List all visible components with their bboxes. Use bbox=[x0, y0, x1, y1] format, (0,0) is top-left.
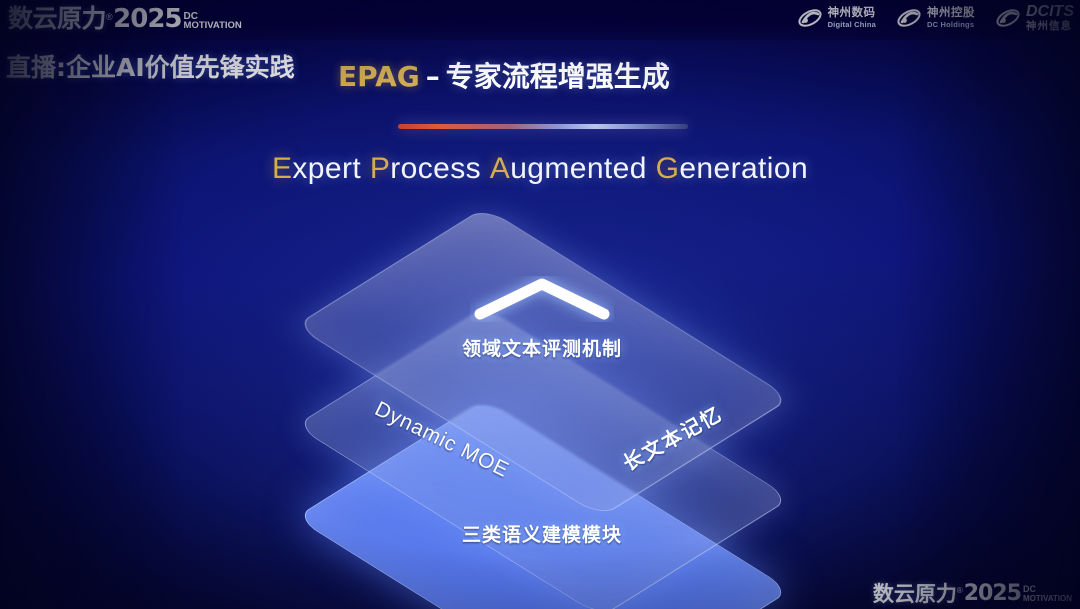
swirl-icon bbox=[995, 7, 1021, 29]
subtitle-initial-e: E bbox=[272, 152, 292, 185]
watermark-name-cn: 数云原力 bbox=[873, 583, 957, 605]
watermark-year: 2025 bbox=[964, 583, 1021, 605]
partner-logo-group: 神州数码 Digital China 神州控股 DC Holdings bbox=[797, 4, 1074, 32]
brand-year: 2025 bbox=[113, 6, 181, 32]
watermark-dc-motivation: DC MOTIVATION bbox=[1023, 585, 1072, 605]
partner-logo-dcits: DCITS 神州信息 bbox=[995, 4, 1074, 32]
slide-subtitle: Expert Process Augmented Generation bbox=[0, 152, 1080, 186]
diagram-layer-bottom-label: 三类语义建模模块 bbox=[292, 520, 792, 547]
swirl-icon bbox=[896, 7, 922, 29]
brand-dc-motivation: DC MOTIVATION bbox=[184, 12, 242, 32]
watermark-motivation-label: MOTIVATION bbox=[1023, 594, 1072, 603]
partner-logo-text: DCITS 神州信息 bbox=[1026, 4, 1074, 32]
watermark-dc-label: DC bbox=[1023, 585, 1072, 594]
slide-canvas: 数云原力 ® 2025 DC MOTIVATION 直播:企业AI价值先锋实践 … bbox=[0, 0, 1080, 609]
partner-name-cn: 神州控股 bbox=[927, 7, 975, 19]
partner-logo-text: 神州控股 DC Holdings bbox=[927, 7, 975, 28]
slide-title-dash: – bbox=[426, 60, 440, 93]
partner-name-cn: 神州信息 bbox=[1026, 21, 1074, 32]
partner-name-cn: 神州数码 bbox=[828, 7, 876, 19]
subtitle-initial-g: G bbox=[656, 152, 680, 185]
subtitle-word-generation: eneration bbox=[679, 152, 808, 185]
partner-name-en: Digital China bbox=[828, 21, 876, 29]
swirl-icon bbox=[797, 7, 823, 29]
live-program-title: 直播:企业AI价值先锋实践 bbox=[6, 48, 295, 84]
diagram-layer-top-label: 领域文本评测机制 bbox=[292, 334, 792, 361]
partner-name-en: DCITS bbox=[1026, 4, 1074, 20]
partner-logo-dc-holdings: 神州控股 DC Holdings bbox=[896, 7, 975, 29]
brand-logo: 数云原力 ® 2025 DC MOTIVATION bbox=[8, 2, 242, 32]
brand-name-cn: 数云原力 bbox=[8, 6, 106, 32]
partner-logo-digital-china: 神州数码 Digital China bbox=[797, 7, 876, 29]
chevron-up-icon bbox=[470, 276, 614, 322]
subtitle-space-1 bbox=[361, 152, 370, 185]
subtitle-space-3 bbox=[647, 152, 656, 185]
partner-logo-text: 神州数码 Digital China bbox=[828, 7, 876, 28]
slide-title-chinese: 专家流程增强生成 bbox=[446, 60, 670, 93]
subtitle-word-process: rocess bbox=[390, 152, 481, 185]
title-divider bbox=[398, 124, 688, 129]
layered-architecture-diagram: 领域文本评测机制 Dynamic MOE 长文本记忆 三类语义建模模块 bbox=[292, 228, 792, 568]
slide-title-acronym: EPAG bbox=[338, 60, 420, 93]
subtitle-word-augmented: ugmented bbox=[510, 152, 647, 185]
brand-registered-mark: ® bbox=[106, 12, 112, 22]
footer-watermark-logo: 数云原力 ® 2025 DC MOTIVATION bbox=[873, 583, 1072, 605]
subtitle-initial-p: P bbox=[370, 152, 390, 185]
partner-name-en: DC Holdings bbox=[927, 21, 975, 29]
subtitle-word-expert: xpert bbox=[292, 152, 361, 185]
brand-motivation-label: MOTIVATION bbox=[184, 21, 242, 30]
watermark-registered-mark: ® bbox=[957, 586, 963, 596]
slide-title: EPAG–专家流程增强生成 bbox=[338, 55, 670, 95]
subtitle-space-2 bbox=[481, 152, 490, 185]
subtitle-initial-a: A bbox=[490, 152, 510, 185]
